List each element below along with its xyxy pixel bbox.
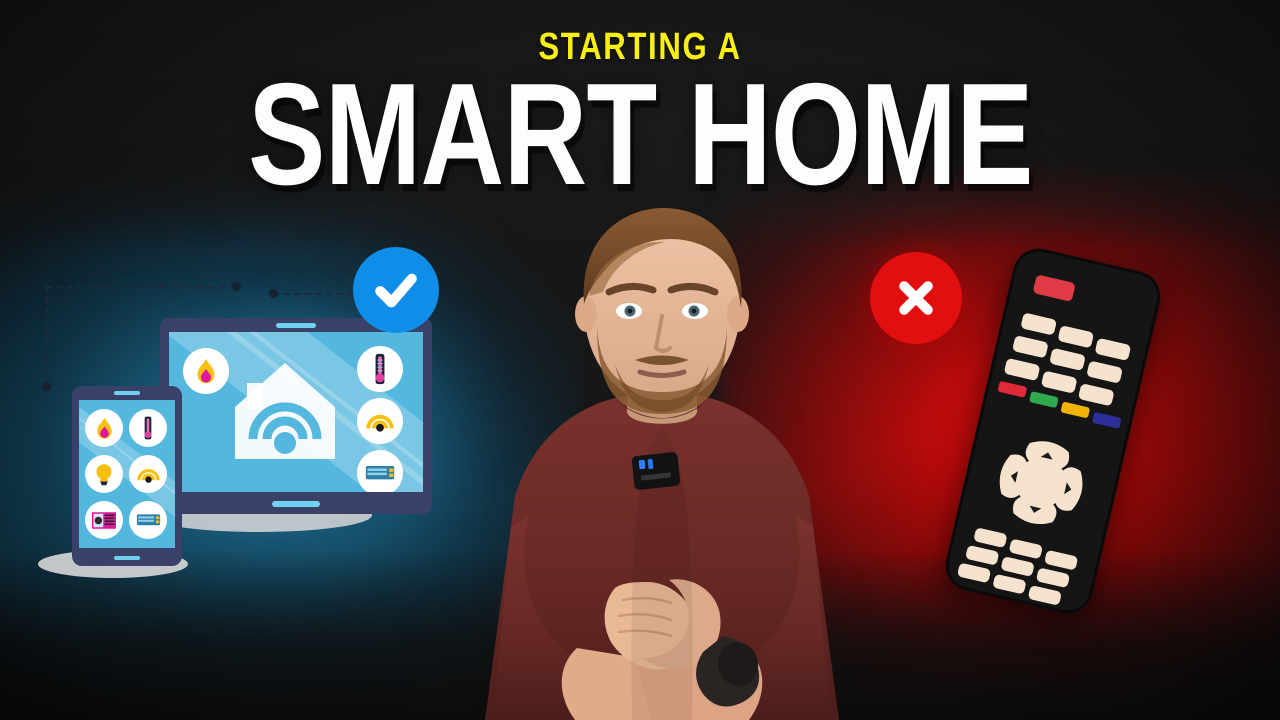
title-block: STARTING A SMART HOME xyxy=(0,0,1280,201)
laptop-device xyxy=(160,318,432,514)
settings-panel-icon xyxy=(85,501,123,539)
wifi-signal-icon xyxy=(357,398,403,444)
host-person xyxy=(437,196,887,720)
flame-icon xyxy=(85,409,123,447)
flame-icon xyxy=(183,348,229,394)
connector-line-top-left xyxy=(46,286,236,288)
air-conditioner-icon xyxy=(129,501,167,539)
thermometer-icon xyxy=(357,346,403,392)
thumbnail-canvas: STARTING A SMART HOME xyxy=(0,0,1280,720)
smart-home-devices-illustration xyxy=(28,262,448,612)
connector-line-left-vertical xyxy=(46,286,48,386)
laptop-trackpad-bar xyxy=(272,501,320,507)
phone-screen xyxy=(79,400,175,548)
wifi-signal-icon xyxy=(129,455,167,493)
laptop-screen xyxy=(169,332,423,492)
connector-line-top-right xyxy=(273,293,353,295)
lightbulb-icon xyxy=(85,455,123,493)
connector-dot-1 xyxy=(232,282,241,291)
smart-home-wifi-house-icon xyxy=(225,354,345,466)
phone-home-bar xyxy=(114,556,140,560)
connector-dot-2 xyxy=(42,382,51,391)
phone-speaker-notch xyxy=(114,391,140,395)
page-title: SMART HOME xyxy=(248,68,1033,201)
connector-dot-3 xyxy=(269,289,278,298)
smartphone-device xyxy=(72,386,182,566)
thermometer-icon xyxy=(129,409,167,447)
laptop-camera-notch xyxy=(276,323,316,328)
check-icon xyxy=(353,247,439,333)
air-conditioner-icon xyxy=(357,450,403,492)
